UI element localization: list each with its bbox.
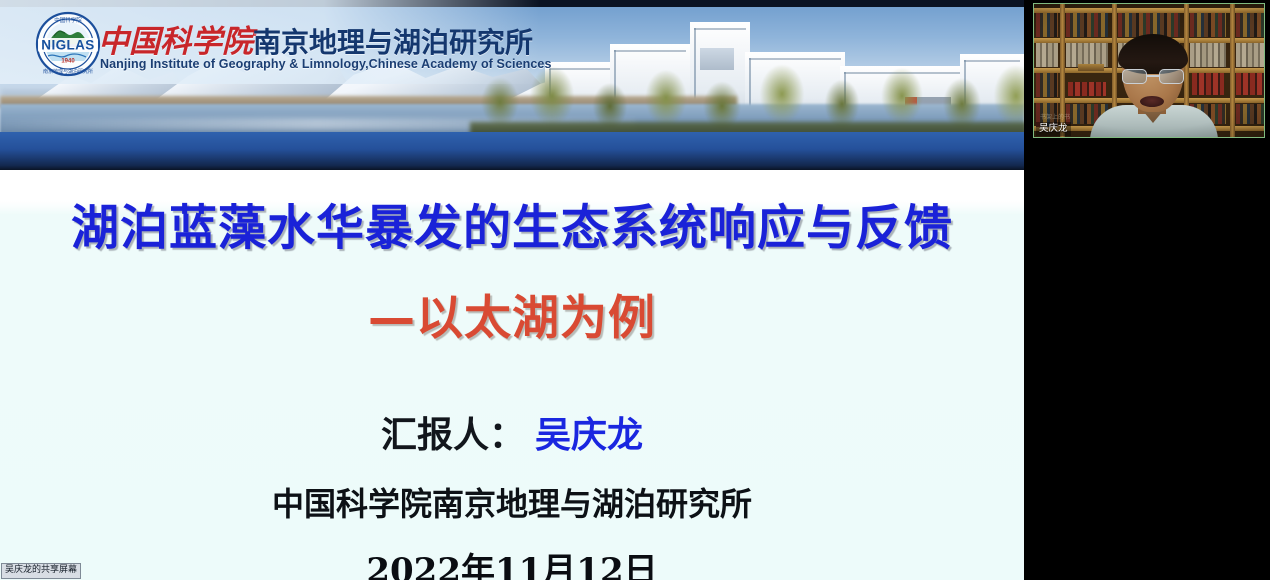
- participant-video-tile[interactable]: 书架上的书 吴庆龙: [1033, 3, 1265, 138]
- logo-wordmark: NIGLAS: [41, 38, 94, 53]
- academy-name-cn: 中国科学院: [98, 24, 253, 60]
- slide-date: 2022年11月12日: [0, 543, 1024, 580]
- organization-name-chinese: 中国科学院南京地理与湖泊研究所: [98, 16, 533, 61]
- screen-share-indicator: 吴庆龙的共享屏幕: [1, 563, 81, 579]
- participant-name-label: 吴庆龙: [1036, 122, 1071, 136]
- niglas-logo-icon: NIGLAS 1940 中国科学院 南京地理与湖泊研究所: [32, 10, 104, 80]
- presenter-label: 汇报人：: [381, 415, 525, 456]
- banner-blue-band: [0, 132, 1024, 170]
- institute-name-cn: 南京地理与湖泊研究所: [253, 26, 533, 59]
- slide-banner-image: NIGLAS 1940 中国科学院 南京地理与湖泊研究所 中国科学院南京地理与湖…: [0, 0, 1024, 170]
- institute-header: NIGLAS 1940 中国科学院 南京地理与湖泊研究所 中国科学院南京地理与湖…: [0, 0, 540, 84]
- logo-arc-text-bottom: 南京地理与湖泊研究所: [43, 68, 93, 75]
- screen-share-viewer: NIGLAS 1940 中国科学院 南京地理与湖泊研究所 中国科学院南京地理与湖…: [0, 0, 1270, 580]
- slide-title-main: 湖泊蓝藻水华暴发的生态系统响应与反馈: [0, 188, 1024, 258]
- presenter-line: 汇报人：吴庆龙: [0, 406, 1024, 458]
- background-wall-text: 书架上的书: [1040, 114, 1070, 121]
- logo-arc-text-top: 中国科学院: [54, 16, 82, 24]
- shared-slide: NIGLAS 1940 中国科学院 南京地理与湖泊研究所 中国科学院南京地理与湖…: [0, 0, 1024, 580]
- participant-video-feed: 书架上的书 吴庆龙: [1034, 4, 1264, 137]
- presenter-affiliation: 中国科学院南京地理与湖泊研究所: [0, 479, 1024, 525]
- organization-name-english: Nanjing Institute of Geography & Limnolo…: [100, 57, 552, 71]
- presenter-name: 吴庆龙: [535, 415, 643, 456]
- logo-year: 1940: [61, 59, 75, 65]
- slide-title-subtitle: —以太湖为例: [0, 279, 1024, 348]
